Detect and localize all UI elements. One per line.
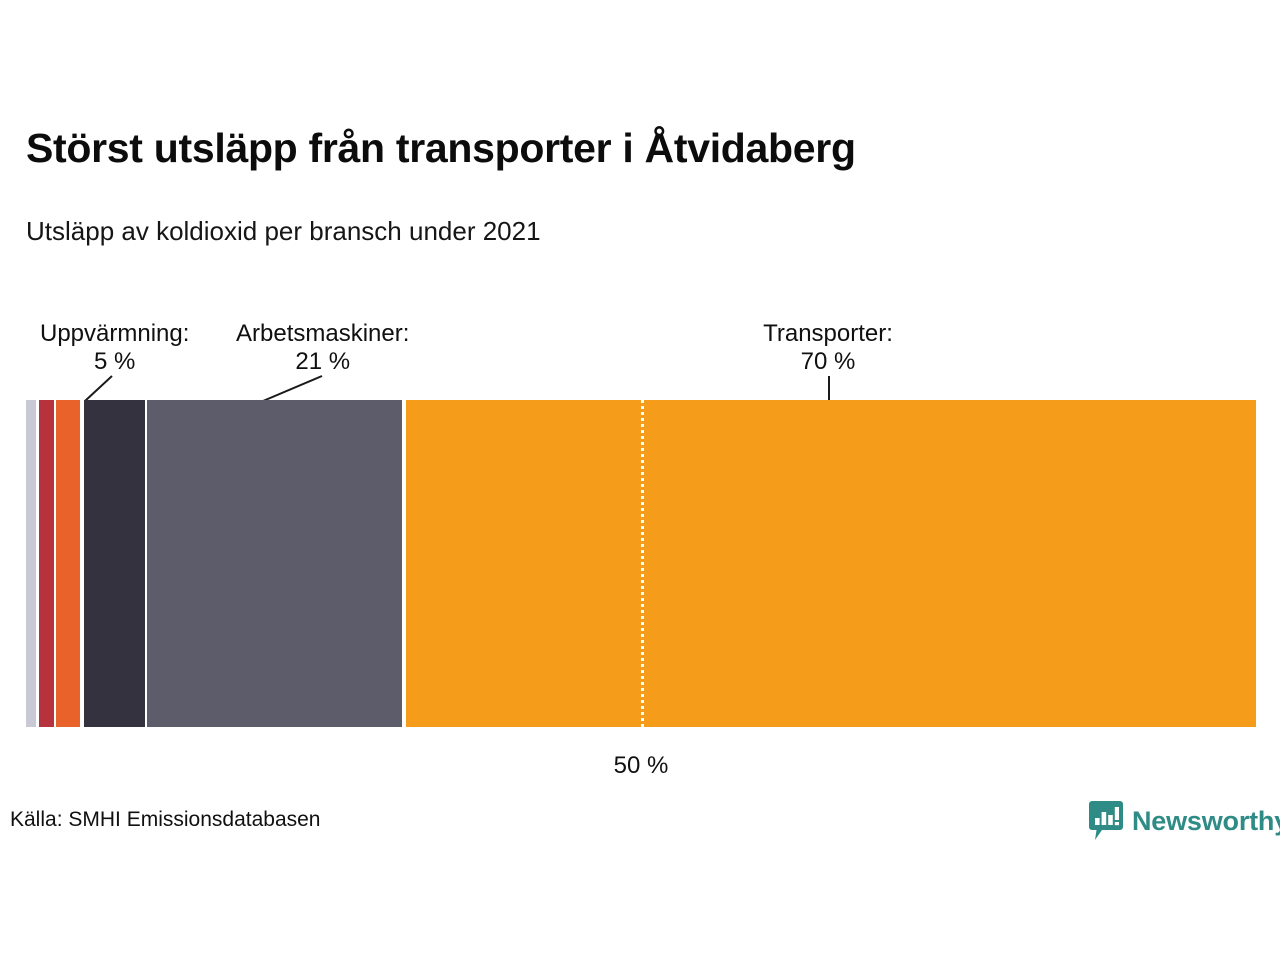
bar-segment-industri[interactable]	[56, 400, 80, 727]
chart-title: Störst utsläpp från transporter i Åtvida…	[26, 126, 1226, 172]
bar-segment-transporter[interactable]	[406, 400, 1256, 727]
callout-uppvarmning-value: 5 %	[40, 348, 189, 376]
callout-arbetsmaskiner-label: Arbetsmaskiner:	[236, 320, 409, 348]
callout-uppvarmning: Uppvärmning: 5 %	[40, 320, 189, 377]
callout-transporter-value: 70 %	[763, 348, 893, 376]
source-note: Källa: SMHI Emissionsdatabasen	[10, 808, 320, 832]
reference-label-50-percent: 50 %	[614, 752, 669, 780]
newsworthy-bubble-chart-icon	[1089, 801, 1123, 841]
reference-line-50-percent	[641, 400, 644, 727]
bar-segment-uppvarmning[interactable]	[84, 400, 145, 727]
leader-line-arbetsmaskiner	[262, 376, 324, 402]
callout-arbetsmaskiner-value: 21 %	[236, 348, 409, 376]
newsworthy-logo[interactable]: Newsworthy	[1089, 799, 1280, 843]
callout-arbetsmaskiner: Arbetsmaskiner: 21 %	[236, 320, 409, 377]
leader-line-uppvarmning	[84, 376, 114, 402]
leader-line-transporter	[828, 376, 830, 400]
bar-segment-ovrigt[interactable]	[26, 400, 36, 727]
callout-transporter: Transporter: 70 %	[763, 320, 893, 377]
callout-transporter-label: Transporter:	[763, 320, 893, 348]
chart-subtitle: Utsläpp av koldioxid per bransch under 2…	[26, 216, 1226, 247]
newsworthy-wordmark: Newsworthy	[1132, 806, 1280, 837]
bar-segment-arbetsmaskiner[interactable]	[147, 400, 402, 727]
chart-container: Störst utsläpp från transporter i Åtvida…	[0, 0, 1280, 960]
callout-uppvarmning-label: Uppvärmning:	[40, 320, 189, 348]
bar-segment-jordbruk[interactable]	[39, 400, 54, 727]
